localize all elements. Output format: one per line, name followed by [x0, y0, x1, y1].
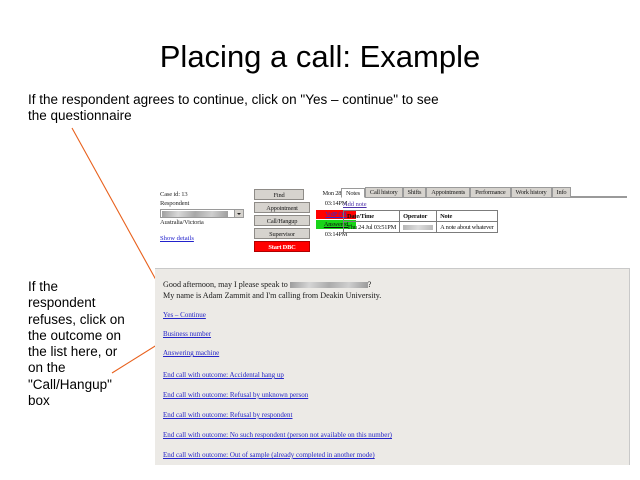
column-header-datetime: Date/Time: [344, 211, 400, 222]
respondent-label: Respondent: [160, 199, 248, 208]
tab-notes[interactable]: Notes: [341, 188, 365, 198]
tab-call-history[interactable]: Call history: [365, 187, 403, 197]
link-outcome-refusal-unknown-person[interactable]: End call with outcome: Refusal by unknow…: [163, 391, 630, 400]
link-business-number[interactable]: Business number: [163, 330, 630, 339]
link-outcome-no-such-respondent[interactable]: End call with outcome: No such responden…: [163, 431, 630, 440]
table-header-row: Date/Time Operator Note: [344, 211, 498, 222]
cell-note: A note about whatever: [437, 222, 497, 233]
start-dbc-button[interactable]: Start DBC: [254, 241, 310, 252]
tab-performance[interactable]: Performance: [470, 187, 510, 197]
find-button[interactable]: Find: [254, 189, 304, 200]
script-line-2: My name is Adam Zammit and I'm calling f…: [163, 291, 630, 302]
chevron-down-icon[interactable]: [234, 210, 243, 217]
script-line-1-after: ?: [368, 280, 372, 289]
annotation-top-text: If the respondent agrees to continue, cl…: [28, 92, 458, 124]
column-header-note: Note: [437, 211, 497, 222]
cell-datetime: Thu 24 Jul 03:51PM: [344, 222, 400, 233]
embedded-app-screenshot: Case id: 13 Respondent Australia/Victori…: [155, 184, 630, 465]
show-details-link[interactable]: Show details: [160, 235, 194, 242]
redacted-operator: [403, 225, 433, 230]
script-line-1-before: Good afternoon, may I please speak to: [163, 280, 288, 289]
tab-appointments[interactable]: Appointments: [426, 187, 470, 197]
script-line-1: Good afternoon, may I please speak to ?: [163, 280, 630, 291]
link-answering-machine[interactable]: Answering machine: [163, 349, 630, 358]
notes-table: Date/Time Operator Note Thu 24 Jul 03:51…: [343, 210, 498, 233]
arrow-top: [72, 128, 166, 298]
app-header-bar: Case id: 13 Respondent Australia/Victori…: [155, 184, 630, 269]
column-header-operator: Operator: [400, 211, 437, 222]
link-outcome-out-of-sample[interactable]: End call with outcome: Out of sample (al…: [163, 451, 630, 460]
link-outcome-refusal-respondent[interactable]: End call with outcome: Refusal by respon…: [163, 411, 630, 420]
case-id-label: Case id: 13: [160, 190, 248, 199]
respondent-select[interactable]: [160, 209, 244, 218]
tab-info[interactable]: Info: [552, 187, 572, 197]
appointment-button[interactable]: Appointment: [254, 202, 310, 213]
redacted-respondent-name: [162, 211, 228, 217]
action-button-column: Find Appointment Call/Hangup Supervisor …: [254, 189, 306, 254]
cell-operator: [400, 222, 437, 233]
link-outcome-accidental-hang-up[interactable]: End call with outcome: Accidental hang u…: [163, 371, 630, 380]
tab-row-filler: [571, 186, 627, 197]
tab-shifts[interactable]: Shifts: [403, 187, 427, 197]
redacted-respondent-inline: [290, 282, 368, 288]
annotation-left-text: If the respondent refuses, click on the …: [28, 279, 126, 409]
link-yes-continue[interactable]: Yes – Continue: [163, 311, 630, 320]
call-script-area: Good afternoon, may I please speak to ? …: [155, 269, 630, 460]
page-title: Placing a call: Example: [0, 40, 640, 74]
add-note-link[interactable]: Add note: [343, 201, 627, 208]
tab-row: Notes Call history Shifts Appointments P…: [341, 186, 627, 198]
timezone-label: Australia/Victoria: [160, 218, 248, 227]
tabs-panel: Notes Call history Shifts Appointments P…: [341, 186, 627, 233]
respondent-panel: Case id: 13 Respondent Australia/Victori…: [160, 190, 248, 245]
call-hangup-button[interactable]: Call/Hangup: [254, 215, 310, 226]
supervisor-button[interactable]: Supervisor: [254, 228, 310, 239]
tab-work-history[interactable]: Work history: [511, 187, 552, 197]
table-row[interactable]: Thu 24 Jul 03:51PM A note about whatever: [344, 222, 498, 233]
